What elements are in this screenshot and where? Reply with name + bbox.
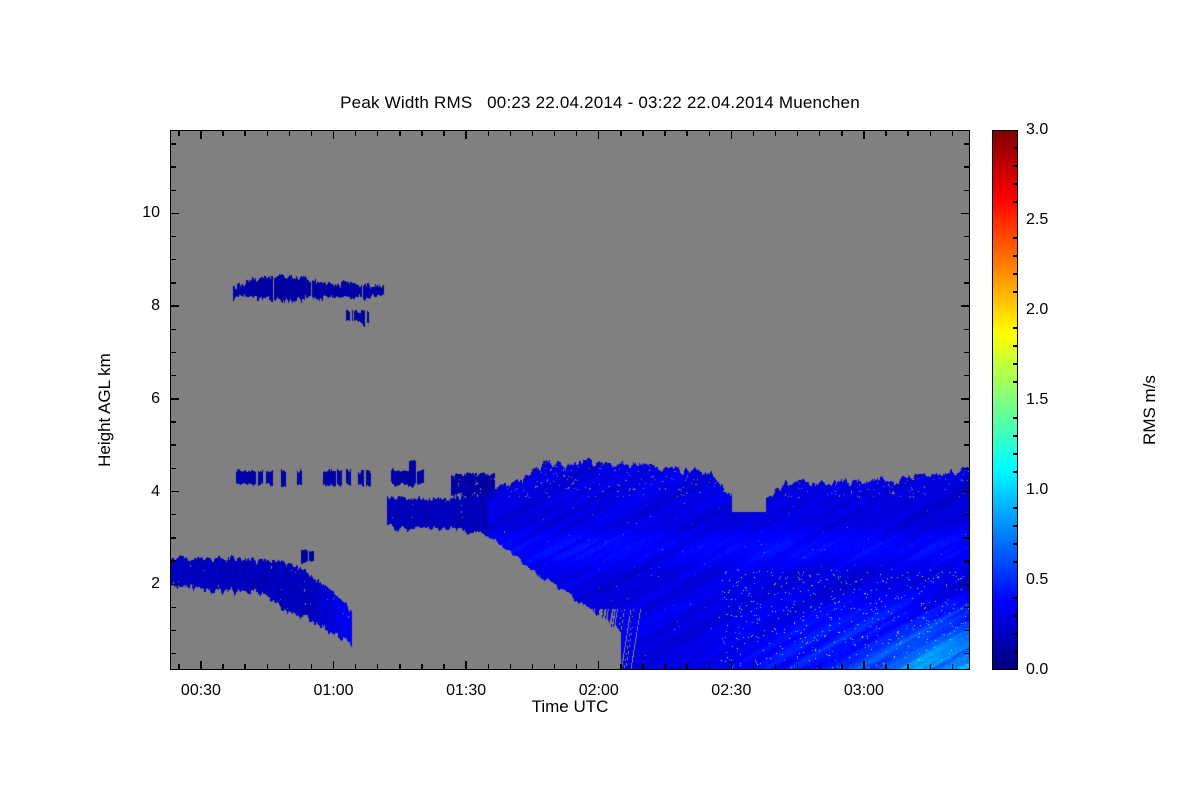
x-tick-minor bbox=[443, 664, 444, 670]
figure-canvas: Peak Width RMS 00:23 22.04.2014 - 03:22 … bbox=[0, 0, 1200, 800]
x-tick-major-top bbox=[598, 130, 599, 139]
x-tick-minor bbox=[686, 664, 687, 670]
y-tick-minor bbox=[170, 259, 176, 260]
colorbar-tick-minor bbox=[1013, 255, 1018, 256]
x-tick-major-top bbox=[465, 130, 466, 139]
x-tick-minor-top bbox=[377, 130, 378, 136]
x-tick-minor bbox=[709, 664, 710, 670]
y-axis-label: Height AGL km bbox=[95, 300, 115, 520]
colorbar-tick-minor bbox=[1013, 597, 1018, 598]
colorbar-tick-minor bbox=[1013, 201, 1018, 202]
y-tick-minor-right bbox=[964, 352, 970, 353]
y-tick-label: 10 bbox=[120, 204, 160, 222]
colorbar-tick-minor bbox=[1013, 633, 1018, 634]
colorbar-label: RMS m/s bbox=[1140, 300, 1160, 520]
y-tick-label: 2 bbox=[120, 575, 160, 593]
x-tick-minor-top bbox=[642, 130, 643, 136]
y-tick-minor-right bbox=[964, 282, 970, 283]
colorbar-tick-minor bbox=[1013, 273, 1018, 274]
colorbar-tick-minor bbox=[1013, 543, 1018, 544]
x-tick-minor bbox=[664, 664, 665, 670]
x-tick-minor bbox=[753, 664, 754, 670]
x-tick-minor-top bbox=[885, 130, 886, 136]
colorbar-tick-minor bbox=[1013, 453, 1018, 454]
y-tick-minor-right bbox=[964, 630, 970, 631]
y-tick-minor bbox=[170, 514, 176, 515]
colorbar-tick-label: 2.5 bbox=[1026, 211, 1048, 229]
x-tick-minor bbox=[885, 664, 886, 670]
y-tick-minor-right bbox=[964, 560, 970, 561]
y-tick-major-right bbox=[961, 305, 970, 306]
page-title: Peak Width RMS 00:23 22.04.2014 - 03:22 … bbox=[0, 93, 1200, 113]
x-tick-minor bbox=[488, 664, 489, 670]
x-tick-minor-top bbox=[311, 130, 312, 136]
x-tick-minor bbox=[554, 664, 555, 670]
y-tick-minor bbox=[170, 143, 176, 144]
x-tick-major-top bbox=[863, 130, 864, 139]
x-tick-minor bbox=[907, 664, 908, 670]
colorbar-tick-minor bbox=[1013, 615, 1018, 616]
y-tick-minor-right bbox=[964, 607, 970, 608]
y-tick-minor-right bbox=[964, 259, 970, 260]
colorbar-tick-minor bbox=[1013, 381, 1018, 382]
colorbar-tick-minor bbox=[1013, 507, 1018, 508]
x-tick-minor-top bbox=[267, 130, 268, 136]
colorbar-gradient bbox=[992, 130, 1018, 670]
colorbar-tick-minor bbox=[1013, 165, 1018, 166]
x-tick-minor bbox=[642, 664, 643, 670]
y-tick-minor bbox=[170, 468, 176, 469]
x-tick-minor-top bbox=[841, 130, 842, 136]
x-tick-minor-top bbox=[664, 130, 665, 136]
y-tick-minor-right bbox=[964, 375, 970, 376]
y-tick-minor-right bbox=[964, 421, 970, 422]
x-tick-minor-top bbox=[554, 130, 555, 136]
x-tick-minor-top bbox=[576, 130, 577, 136]
x-tick-minor-top bbox=[952, 130, 953, 136]
x-tick-major-top bbox=[333, 130, 334, 139]
x-tick-minor bbox=[576, 664, 577, 670]
x-tick-minor-top bbox=[289, 130, 290, 136]
x-tick-major bbox=[731, 661, 732, 670]
x-tick-minor bbox=[421, 664, 422, 670]
y-tick-minor bbox=[170, 630, 176, 631]
x-tick-minor-top bbox=[443, 130, 444, 136]
colorbar-tick-minor bbox=[1013, 183, 1018, 184]
y-tick-label: 4 bbox=[120, 483, 160, 501]
colorbar-tick-minor bbox=[1013, 417, 1018, 418]
x-tick-major bbox=[863, 661, 864, 670]
y-tick-minor bbox=[170, 444, 176, 445]
y-tick-major bbox=[170, 584, 179, 585]
x-tick-minor bbox=[510, 664, 511, 670]
x-tick-minor bbox=[399, 664, 400, 670]
x-tick-minor bbox=[178, 664, 179, 670]
y-tick-minor bbox=[170, 329, 176, 330]
x-tick-minor bbox=[355, 664, 356, 670]
x-tick-minor-top bbox=[355, 130, 356, 136]
x-tick-minor-top bbox=[775, 130, 776, 136]
x-tick-minor bbox=[311, 664, 312, 670]
x-tick-minor bbox=[930, 664, 931, 670]
x-tick-major-top bbox=[200, 130, 201, 139]
colorbar-tick-label: 2.0 bbox=[1026, 301, 1048, 319]
y-tick-major-right bbox=[961, 584, 970, 585]
x-tick-minor bbox=[222, 664, 223, 670]
plot-area bbox=[170, 130, 970, 670]
y-tick-label: 6 bbox=[120, 390, 160, 408]
y-tick-minor bbox=[170, 560, 176, 561]
x-tick-minor-top bbox=[421, 130, 422, 136]
y-tick-minor-right bbox=[964, 236, 970, 237]
y-tick-minor bbox=[170, 166, 176, 167]
colorbar-tick-minor bbox=[1013, 291, 1018, 292]
colorbar-tick-label: 1.0 bbox=[1026, 481, 1048, 499]
y-tick-minor-right bbox=[964, 514, 970, 515]
x-tick-minor-top bbox=[488, 130, 489, 136]
y-tick-minor-right bbox=[964, 653, 970, 654]
y-tick-label: 8 bbox=[120, 297, 160, 315]
heatmap-data bbox=[171, 131, 970, 670]
x-tick-minor-top bbox=[244, 130, 245, 136]
colorbar-tick-minor bbox=[1013, 471, 1018, 472]
x-tick-minor-top bbox=[620, 130, 621, 136]
x-tick-minor-top bbox=[532, 130, 533, 136]
x-tick-minor-top bbox=[399, 130, 400, 136]
x-tick-minor bbox=[952, 664, 953, 670]
colorbar-tick-minor bbox=[1013, 363, 1018, 364]
y-tick-major-right bbox=[961, 213, 970, 214]
x-tick-minor-top bbox=[686, 130, 687, 136]
x-tick-major bbox=[333, 661, 334, 670]
x-tick-major bbox=[465, 661, 466, 670]
y-tick-major bbox=[170, 305, 179, 306]
x-tick-minor-top bbox=[907, 130, 908, 136]
colorbar-tick-label: 3.0 bbox=[1026, 121, 1048, 139]
y-tick-minor bbox=[170, 607, 176, 608]
colorbar-tick-minor bbox=[1013, 651, 1018, 652]
x-tick-minor bbox=[797, 664, 798, 670]
y-tick-minor-right bbox=[964, 468, 970, 469]
x-tick-minor-top bbox=[930, 130, 931, 136]
y-tick-minor-right bbox=[964, 537, 970, 538]
x-tick-minor bbox=[819, 664, 820, 670]
colorbar-tick-label: 0.5 bbox=[1026, 571, 1048, 589]
y-tick-minor bbox=[170, 190, 176, 191]
x-tick-minor bbox=[244, 664, 245, 670]
x-tick-minor-top bbox=[753, 130, 754, 136]
x-tick-major bbox=[598, 661, 599, 670]
x-tick-major bbox=[200, 661, 201, 670]
x-tick-minor-top bbox=[709, 130, 710, 136]
y-tick-minor bbox=[170, 375, 176, 376]
x-tick-minor bbox=[532, 664, 533, 670]
y-tick-minor-right bbox=[964, 190, 970, 191]
y-tick-minor bbox=[170, 282, 176, 283]
y-tick-minor-right bbox=[964, 329, 970, 330]
colorbar-tick-label: 1.5 bbox=[1026, 391, 1048, 409]
colorbar-tick-label: 0.0 bbox=[1026, 661, 1048, 679]
x-tick-minor bbox=[775, 664, 776, 670]
x-tick-minor-top bbox=[222, 130, 223, 136]
x-tick-minor-top bbox=[819, 130, 820, 136]
x-axis-label: Time UTC bbox=[170, 697, 970, 717]
x-tick-minor bbox=[267, 664, 268, 670]
x-tick-minor-top bbox=[178, 130, 179, 136]
colorbar-tick-minor bbox=[1013, 237, 1018, 238]
x-tick-minor-top bbox=[510, 130, 511, 136]
colorbar-tick-minor bbox=[1013, 561, 1018, 562]
x-tick-major-top bbox=[731, 130, 732, 139]
y-tick-minor-right bbox=[964, 166, 970, 167]
y-tick-minor bbox=[170, 352, 176, 353]
y-tick-minor-right bbox=[964, 444, 970, 445]
colorbar bbox=[992, 130, 1018, 670]
y-tick-minor bbox=[170, 421, 176, 422]
colorbar-tick-minor bbox=[1013, 147, 1018, 148]
y-tick-minor bbox=[170, 236, 176, 237]
colorbar-tick-minor bbox=[1013, 435, 1018, 436]
y-tick-major bbox=[170, 213, 179, 214]
colorbar-tick-minor bbox=[1013, 525, 1018, 526]
colorbar-tick-minor bbox=[1013, 327, 1018, 328]
x-tick-minor bbox=[289, 664, 290, 670]
x-tick-minor bbox=[377, 664, 378, 670]
y-tick-major-right bbox=[961, 398, 970, 399]
x-tick-minor-top bbox=[797, 130, 798, 136]
colorbar-tick-minor bbox=[1013, 345, 1018, 346]
y-tick-minor-right bbox=[964, 143, 970, 144]
y-tick-major bbox=[170, 398, 179, 399]
x-tick-minor bbox=[841, 664, 842, 670]
x-tick-minor bbox=[620, 664, 621, 670]
y-tick-minor bbox=[170, 537, 176, 538]
y-tick-minor bbox=[170, 653, 176, 654]
y-tick-major bbox=[170, 491, 179, 492]
y-tick-major-right bbox=[961, 491, 970, 492]
